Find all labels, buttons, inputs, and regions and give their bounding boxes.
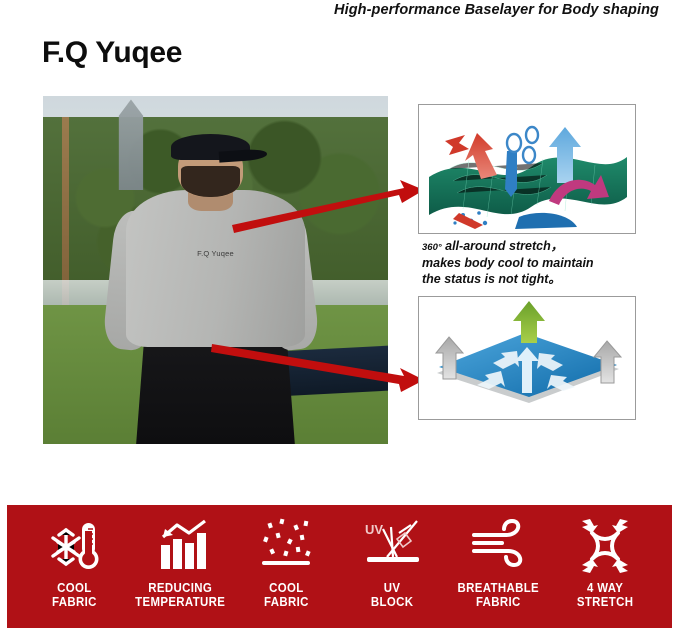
snowflake-thermometer-icon — [46, 515, 102, 577]
wind-breathable-icon — [468, 515, 530, 577]
svg-text:UV: UV — [365, 522, 383, 537]
caption-line-1: all-around stretch， — [442, 239, 564, 253]
feature-reducing-temperature: REDUCING TEMPERATURE — [127, 515, 233, 609]
tagline: High-performance Baselayer for Body shap… — [334, 2, 659, 18]
breathability-diagram-panel — [418, 296, 636, 420]
product-photo: F.Q Yuqee — [43, 96, 388, 444]
stretch-caption: 360° all-around stretch， makes body cool… — [422, 238, 652, 288]
feature-cool-fabric-2: COOL FABRIC — [233, 515, 339, 609]
feature-cool-fabric-1: COOL FABRIC — [21, 515, 127, 609]
shirt-chest-logo: F.Q Yuqee — [164, 249, 268, 258]
blue-down-arrow — [505, 151, 517, 197]
photo-model-beard — [181, 166, 240, 197]
feature-label: UV BLOCK — [371, 581, 413, 609]
caption-line-2: makes body cool to maintain — [422, 256, 594, 270]
bar-chart-down-arrow-icon — [151, 515, 209, 577]
photo-model-shirt — [126, 190, 305, 347]
caption-degree: 360° — [422, 242, 442, 253]
product-infographic: High-performance Baselayer for Body shap… — [0, 0, 679, 634]
feature-label: BREATHABLE FABRIC — [458, 581, 539, 609]
brand-title: F.Q Yuqee — [42, 36, 182, 70]
feature-band: COOL FABRIC — [7, 505, 672, 628]
feature-label: REDUCING TEMPERATURE — [135, 581, 225, 609]
four-way-stretch-icon — [574, 515, 636, 577]
caption-line-3: the status is not tight。 — [422, 272, 561, 286]
stretch-diagram-panel — [418, 104, 636, 234]
feature-uv-block: UV UV BLOCK — [340, 515, 446, 609]
particles-dots-icon — [258, 515, 314, 577]
feature-label: COOL FABRIC — [52, 581, 97, 609]
feature-label: 4 WAY STRETCH — [577, 581, 633, 609]
uv-block-icon: UV — [361, 515, 425, 577]
feature-breathable-fabric: BREATHABLE FABRIC — [446, 515, 552, 609]
feature-4-way-stretch: 4 WAY STRETCH — [552, 515, 658, 609]
feature-label: COOL FABRIC — [264, 581, 309, 609]
